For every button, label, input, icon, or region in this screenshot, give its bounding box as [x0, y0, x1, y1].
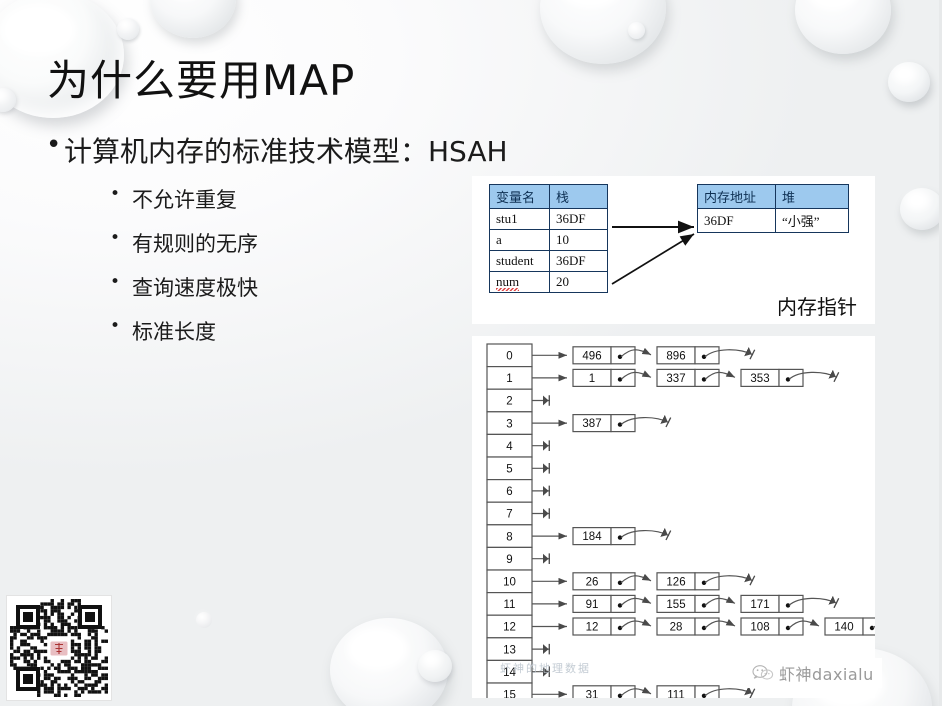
sub-bullet-0: •不允许重复	[110, 184, 237, 214]
hash-node-value: 31	[586, 689, 599, 698]
arrow-student-to-heap	[612, 234, 694, 284]
hash-node-value: 91	[586, 599, 599, 611]
hash-bucket-index: 3	[506, 418, 512, 430]
center-faint-watermark: 虾神的地理数据	[500, 660, 591, 676]
hash-bucket-index: 10	[503, 577, 516, 589]
hash-bucket-index: 9	[506, 554, 512, 566]
hash-node: 496	[573, 347, 635, 364]
hash-node-value: 140	[834, 622, 853, 634]
hash-bucket-index: 4	[506, 441, 513, 453]
bubble-decoration	[0, 88, 16, 112]
hash-bucket-index: 12	[503, 622, 516, 634]
bullet-glyph: •	[110, 228, 132, 248]
bubble-decoration	[628, 22, 645, 39]
hash-node: 1	[573, 369, 635, 386]
hash-node: 387	[573, 415, 635, 432]
hash-node-value: 108	[750, 622, 769, 634]
hash-node: 353	[741, 369, 803, 386]
qr-code-watermark[interactable]	[7, 596, 111, 700]
hash-node-value: 896	[666, 350, 685, 362]
hash-bucket-index: 7	[506, 509, 512, 521]
sub-bullet-3: •标准长度	[110, 316, 216, 346]
bubble-decoration	[888, 62, 930, 102]
bullet-main-label: 计算机内存的标准技术模型：HSAH	[64, 135, 508, 168]
watermark-name: 虾神daxialu	[779, 661, 874, 685]
hash-node-value: 171	[750, 599, 769, 611]
page-title: 为什么要用MAP	[47, 47, 355, 108]
sub-bullet-label: 查询速度极快	[132, 276, 258, 300]
hash-table-diagram: 0123456789101112131415 49689613373533871…	[472, 336, 875, 698]
hash-node: 155	[657, 595, 719, 612]
bubble-decoration	[150, 0, 236, 38]
hash-node: 337	[657, 369, 719, 386]
hash-node-value: 12	[586, 622, 599, 634]
hash-bucket-index: 5	[506, 464, 512, 476]
sub-bullet-2: •查询速度极快	[110, 272, 258, 302]
bubble-decoration	[330, 618, 448, 706]
bullet-glyph: •	[110, 184, 132, 204]
bubble-decoration	[418, 650, 452, 682]
hash-node-value: 353	[750, 373, 769, 385]
hash-node: 111	[657, 686, 719, 698]
hash-node: 26	[573, 573, 635, 590]
hash-node: 28	[657, 618, 719, 635]
hash-node: 12	[573, 618, 635, 635]
slide-canvas: 为什么要用MAP •计算机内存的标准技术模型：HSAH •不允许重复 •有规则的…	[0, 0, 942, 706]
hash-node-value: 111	[667, 689, 684, 698]
pointer-caption: 内存指针	[777, 291, 857, 320]
hash-bucket-index: 6	[506, 486, 512, 498]
bubble-decoration	[117, 18, 139, 40]
hash-node-value: 337	[666, 373, 685, 385]
hash-node-value: 126	[666, 576, 685, 588]
bubble-decoration	[900, 188, 942, 230]
hash-bucket-index: 15	[503, 690, 516, 699]
sub-bullet-label: 不允许重复	[132, 188, 237, 212]
bubble-decoration	[795, 0, 891, 54]
sub-bullet-label: 有规则的无序	[132, 232, 258, 256]
bubble-decoration	[540, 0, 666, 64]
hash-chain-nodes: 4968961337353387184261269115517112281081…	[532, 347, 875, 698]
wechat-icon	[752, 664, 774, 682]
hash-bucket-index: 0	[506, 351, 512, 363]
hash-bucket-index: 11	[504, 599, 516, 611]
hash-bucket-index: 2	[506, 396, 512, 408]
hash-node-value: 387	[582, 418, 601, 430]
bottom-right-watermark: 虾神daxialu	[748, 658, 882, 688]
hash-node-value: 184	[582, 531, 602, 543]
hash-node-value: 496	[582, 350, 601, 362]
sub-bullet-label: 标准长度	[132, 320, 216, 344]
qr-code-icon	[10, 599, 108, 697]
hash-node: 171	[741, 595, 803, 612]
hash-node: 184	[573, 528, 635, 545]
hash-node: 140	[825, 618, 875, 635]
bullet-glyph: •	[46, 130, 64, 160]
qr-center-seal-icon	[49, 640, 69, 657]
hash-bucket-index: 13	[503, 644, 516, 656]
hash-node: 91	[573, 595, 635, 612]
bubble-decoration	[196, 612, 212, 628]
hash-bucket-index: 1	[506, 373, 512, 385]
hash-bucket-column: 0123456789101112131415	[487, 344, 532, 698]
hash-node-value: 26	[586, 576, 599, 588]
hash-node: 896	[657, 347, 719, 364]
hash-node: 108	[741, 618, 803, 635]
hash-bucket-index: 8	[506, 531, 512, 543]
bullet-main: •计算机内存的标准技术模型：HSAH	[46, 130, 508, 170]
bullet-glyph: •	[110, 316, 132, 336]
bullet-glyph: •	[110, 272, 132, 292]
hash-node-value: 28	[670, 622, 683, 634]
hash-node-value: 1	[589, 373, 595, 385]
hash-node-value: 155	[666, 599, 685, 611]
hash-node: 126	[657, 573, 719, 590]
sub-bullet-1: •有规则的无序	[110, 228, 258, 258]
